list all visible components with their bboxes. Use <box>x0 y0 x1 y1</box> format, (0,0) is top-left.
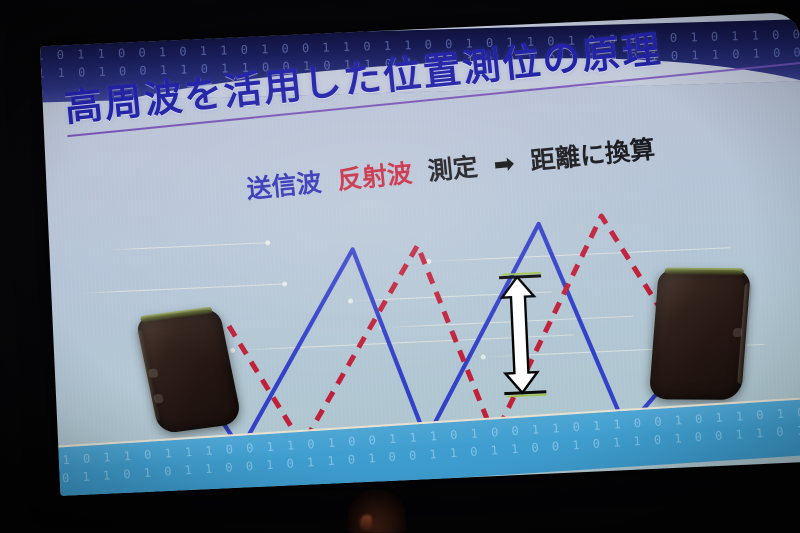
decor-node-dot <box>348 298 353 303</box>
audience-face <box>360 515 372 531</box>
measure-tick-top-highlight <box>502 273 541 275</box>
measure-tick-bottom-highlight <box>507 395 546 397</box>
decor-node-dot <box>282 281 287 286</box>
legend-row: 送信波 反射波 測定 ➡ 距離に換算 <box>246 120 800 202</box>
legend-convert-to-distance: 距離に換算 <box>529 136 656 173</box>
decor-node-dot <box>426 259 431 264</box>
measure-tick-top <box>499 276 541 278</box>
decor-node-line <box>352 291 552 301</box>
measure-tick-bottom <box>504 392 546 394</box>
decor-node-dot <box>379 325 384 330</box>
legend-transmitted-wave: 送信波 <box>246 170 323 202</box>
decor-node-line <box>81 283 286 293</box>
decor-node-line <box>234 334 574 350</box>
decor-node-line <box>383 316 633 328</box>
projection-screen-wrapper: 1 0 1 1 0 0 1 0 1 1 0 1 0 0 1 1 0 1 1 0 … <box>0 0 800 525</box>
decor-node-dot <box>481 354 486 359</box>
phone-sheen <box>135 308 242 435</box>
legend-reflected-wave: 反射波 <box>336 161 413 193</box>
audience-silhouette <box>348 489 406 533</box>
projection-screen: 1 0 1 1 0 0 1 0 1 1 0 1 0 0 1 1 0 1 1 0 … <box>40 12 800 496</box>
reflector-phone <box>649 270 751 400</box>
transmitter-phone <box>135 308 242 435</box>
decor-node-dot <box>265 240 270 245</box>
decor-node-dot <box>230 348 235 353</box>
decor-node-line <box>109 242 269 250</box>
right-arrow-icon: ➡ <box>492 150 515 177</box>
legend-measure: 測定 <box>427 154 479 184</box>
photo-frame: 1 0 1 1 0 0 1 0 1 1 0 1 0 0 1 1 0 1 1 0 … <box>0 0 800 533</box>
phone-sheen <box>649 270 751 400</box>
decor-node-line <box>430 247 730 262</box>
